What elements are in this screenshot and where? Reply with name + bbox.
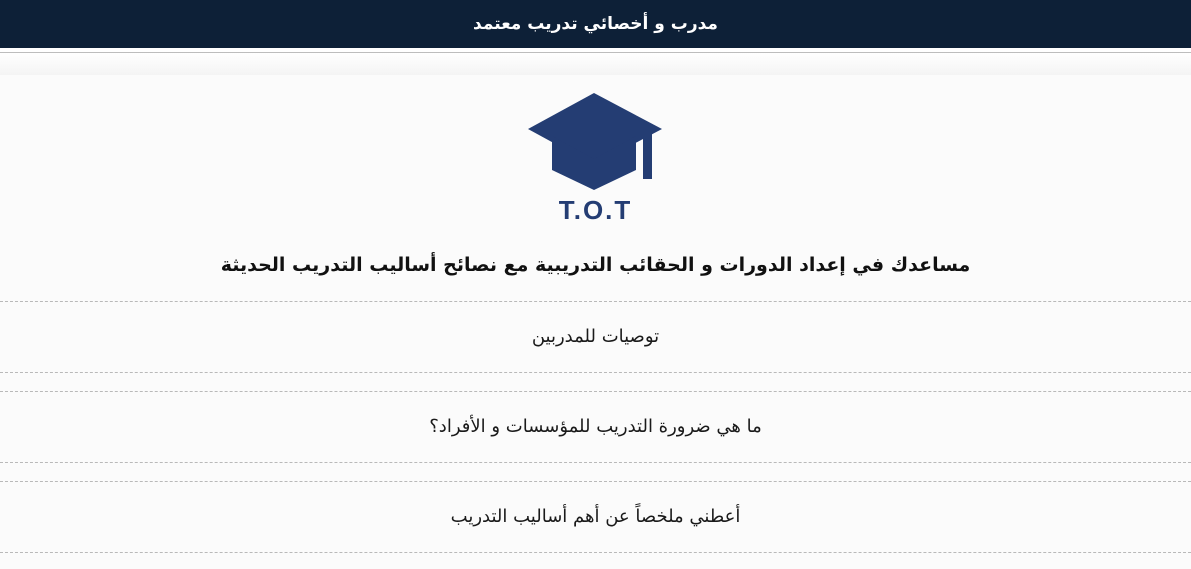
hero-section: T.O.T مساعدك في إعداد الدورات و الحقائب …: [0, 75, 1191, 279]
header-fade-band: [0, 53, 1191, 75]
app-header: مدرب و أخصائي تدريب معتمد: [0, 0, 1191, 48]
suggestion-item-0[interactable]: توصيات للمدربين: [0, 302, 1191, 372]
suggestion-item-2[interactable]: أعطني ملخصاً عن أهم أساليب التدريب: [0, 482, 1191, 552]
graduation-cap-icon: [526, 91, 666, 191]
logo-wordmark: T.O.T: [559, 195, 633, 226]
list-divider: [0, 552, 1191, 553]
hero-tagline: مساعدك في إعداد الدورات و الحقائب التدري…: [221, 252, 971, 279]
suggestion-label: توصيات للمدربين: [532, 326, 659, 347]
suggestion-label: ما هي ضرورة التدريب للمؤسسات و الأفراد؟: [429, 416, 762, 437]
brand-logo: T.O.T: [526, 91, 666, 226]
page-title: مدرب و أخصائي تدريب معتمد: [473, 16, 718, 33]
list-gap: [0, 373, 1191, 391]
suggestion-label: أعطني ملخصاً عن أهم أساليب التدريب: [451, 506, 741, 527]
main-content: T.O.T مساعدك في إعداد الدورات و الحقائب …: [0, 75, 1191, 569]
list-gap: [0, 463, 1191, 481]
suggestion-list: توصيات للمدربين ما هي ضرورة التدريب للمؤ…: [0, 301, 1191, 553]
suggestion-item-1[interactable]: ما هي ضرورة التدريب للمؤسسات و الأفراد؟: [0, 392, 1191, 462]
